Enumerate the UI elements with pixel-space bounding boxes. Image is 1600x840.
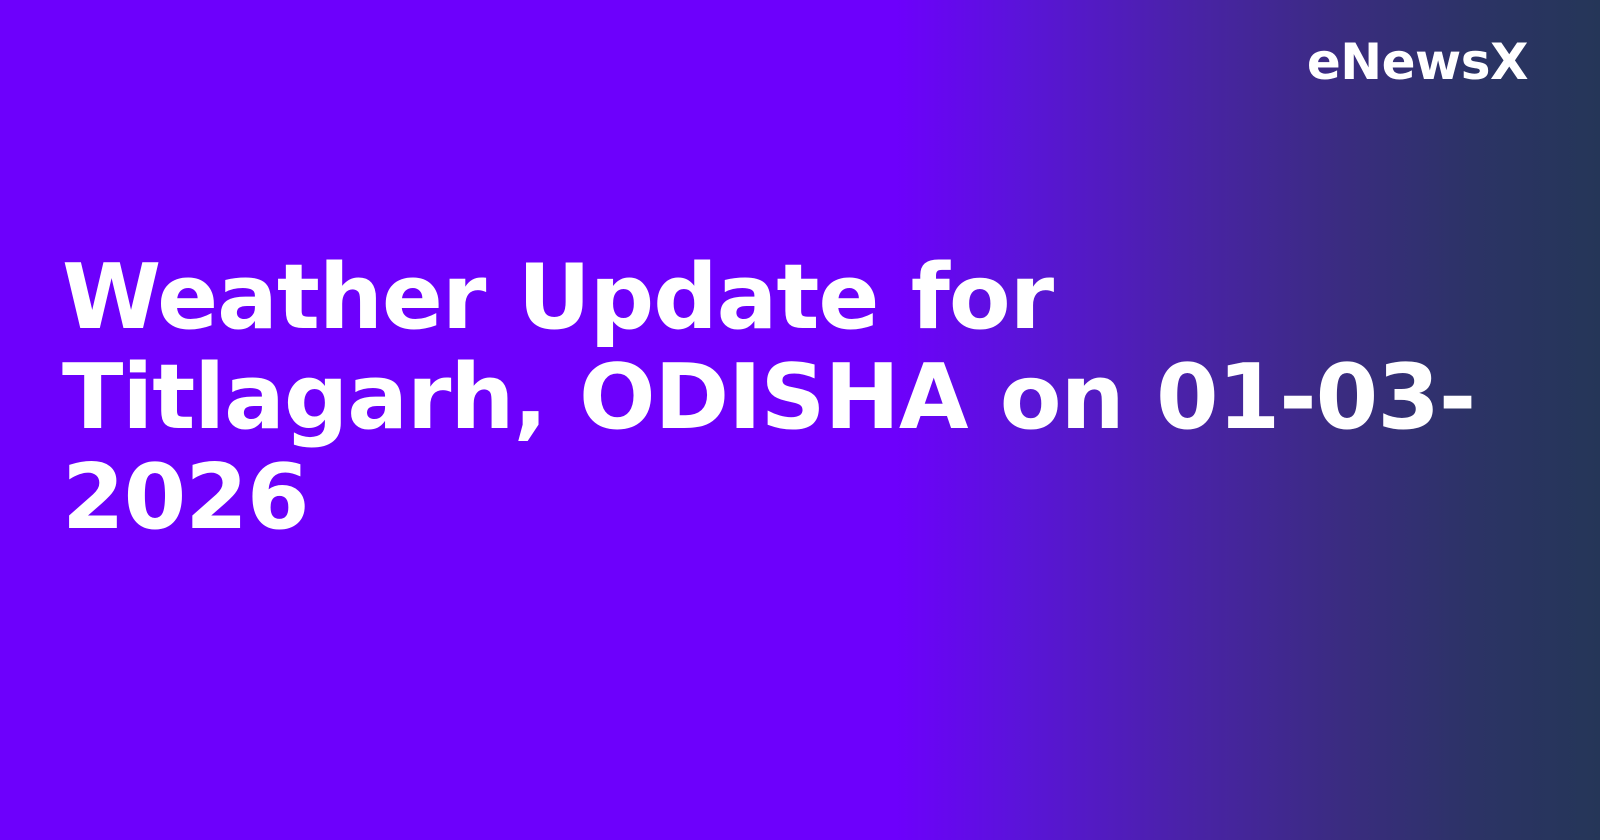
brand-logo[interactable]: eNewsX <box>1307 30 1528 94</box>
page-title: Weather Update for Titlagarh, ODISHA on … <box>62 248 1504 548</box>
weather-update-banner: eNewsX Weather Update for Titlagarh, ODI… <box>0 0 1600 840</box>
brand-wordmark: eNewsX <box>1307 37 1528 87</box>
headline-container: Weather Update for Titlagarh, ODISHA on … <box>62 248 1504 548</box>
